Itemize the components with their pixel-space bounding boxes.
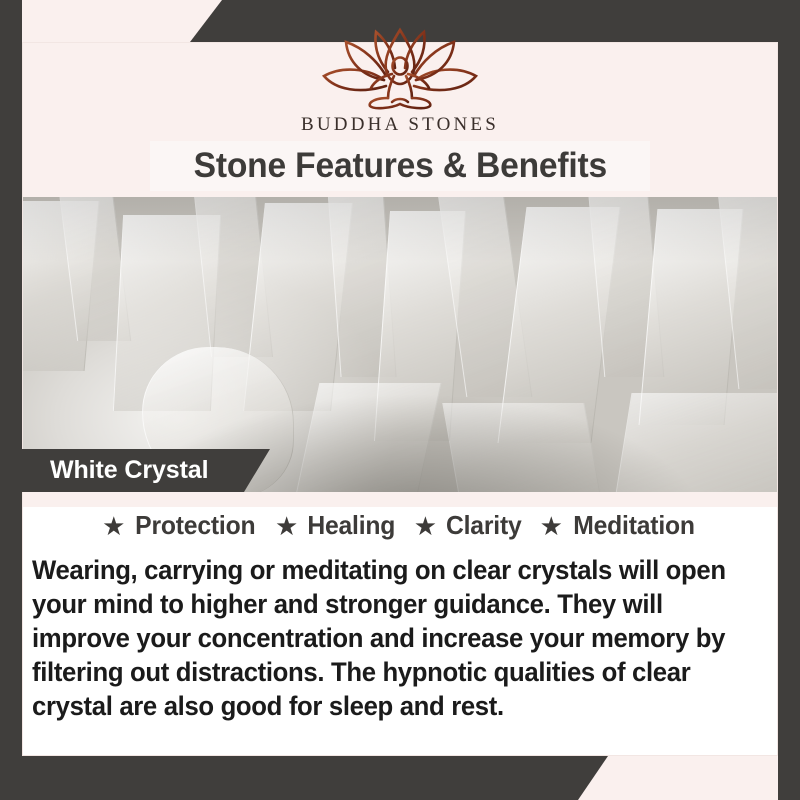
- star-icon: ★: [540, 513, 563, 539]
- page-title: Stone Features & Benefits: [193, 146, 606, 186]
- benefit-item-protection: ★ Protection: [102, 510, 259, 541]
- benefit-label: Healing: [308, 510, 396, 541]
- lotus-meditation-icon: [316, 24, 484, 110]
- title-banner: Stone Features & Benefits: [150, 141, 650, 191]
- crystal-photo: [22, 197, 800, 492]
- benefit-label: Clarity: [446, 510, 522, 541]
- stone-description: Wearing, carrying or meditating on clear…: [32, 554, 752, 724]
- star-icon: ★: [102, 513, 125, 539]
- benefit-item-meditation: ★ Meditation: [540, 510, 698, 541]
- brand-name: BUDDHA STONES: [0, 114, 800, 136]
- stone-name-label: White Crystal: [22, 456, 208, 485]
- benefit-item-clarity: ★ Clarity: [414, 510, 524, 541]
- photo-shading: [22, 197, 800, 492]
- cream-divider: [22, 492, 778, 507]
- infographic-poster: White Crystal ★ Protection ★ Healing ★ C…: [0, 0, 800, 800]
- content-panel: ★ Protection ★ Healing ★ Clarity ★ Medit…: [22, 492, 778, 756]
- benefit-item-healing: ★ Healing: [275, 510, 398, 541]
- star-icon: ★: [275, 513, 298, 539]
- stone-name-banner: White Crystal: [22, 449, 270, 492]
- benefit-label: Meditation: [573, 510, 695, 541]
- benefit-label: Protection: [136, 510, 256, 541]
- brand-logo-block: BUDDHA STONES: [0, 24, 800, 136]
- frame-wedge-bottom: [0, 756, 800, 800]
- benefits-row: ★ Protection ★ Healing ★ Clarity ★ Medit…: [22, 510, 778, 541]
- star-icon: ★: [414, 513, 437, 539]
